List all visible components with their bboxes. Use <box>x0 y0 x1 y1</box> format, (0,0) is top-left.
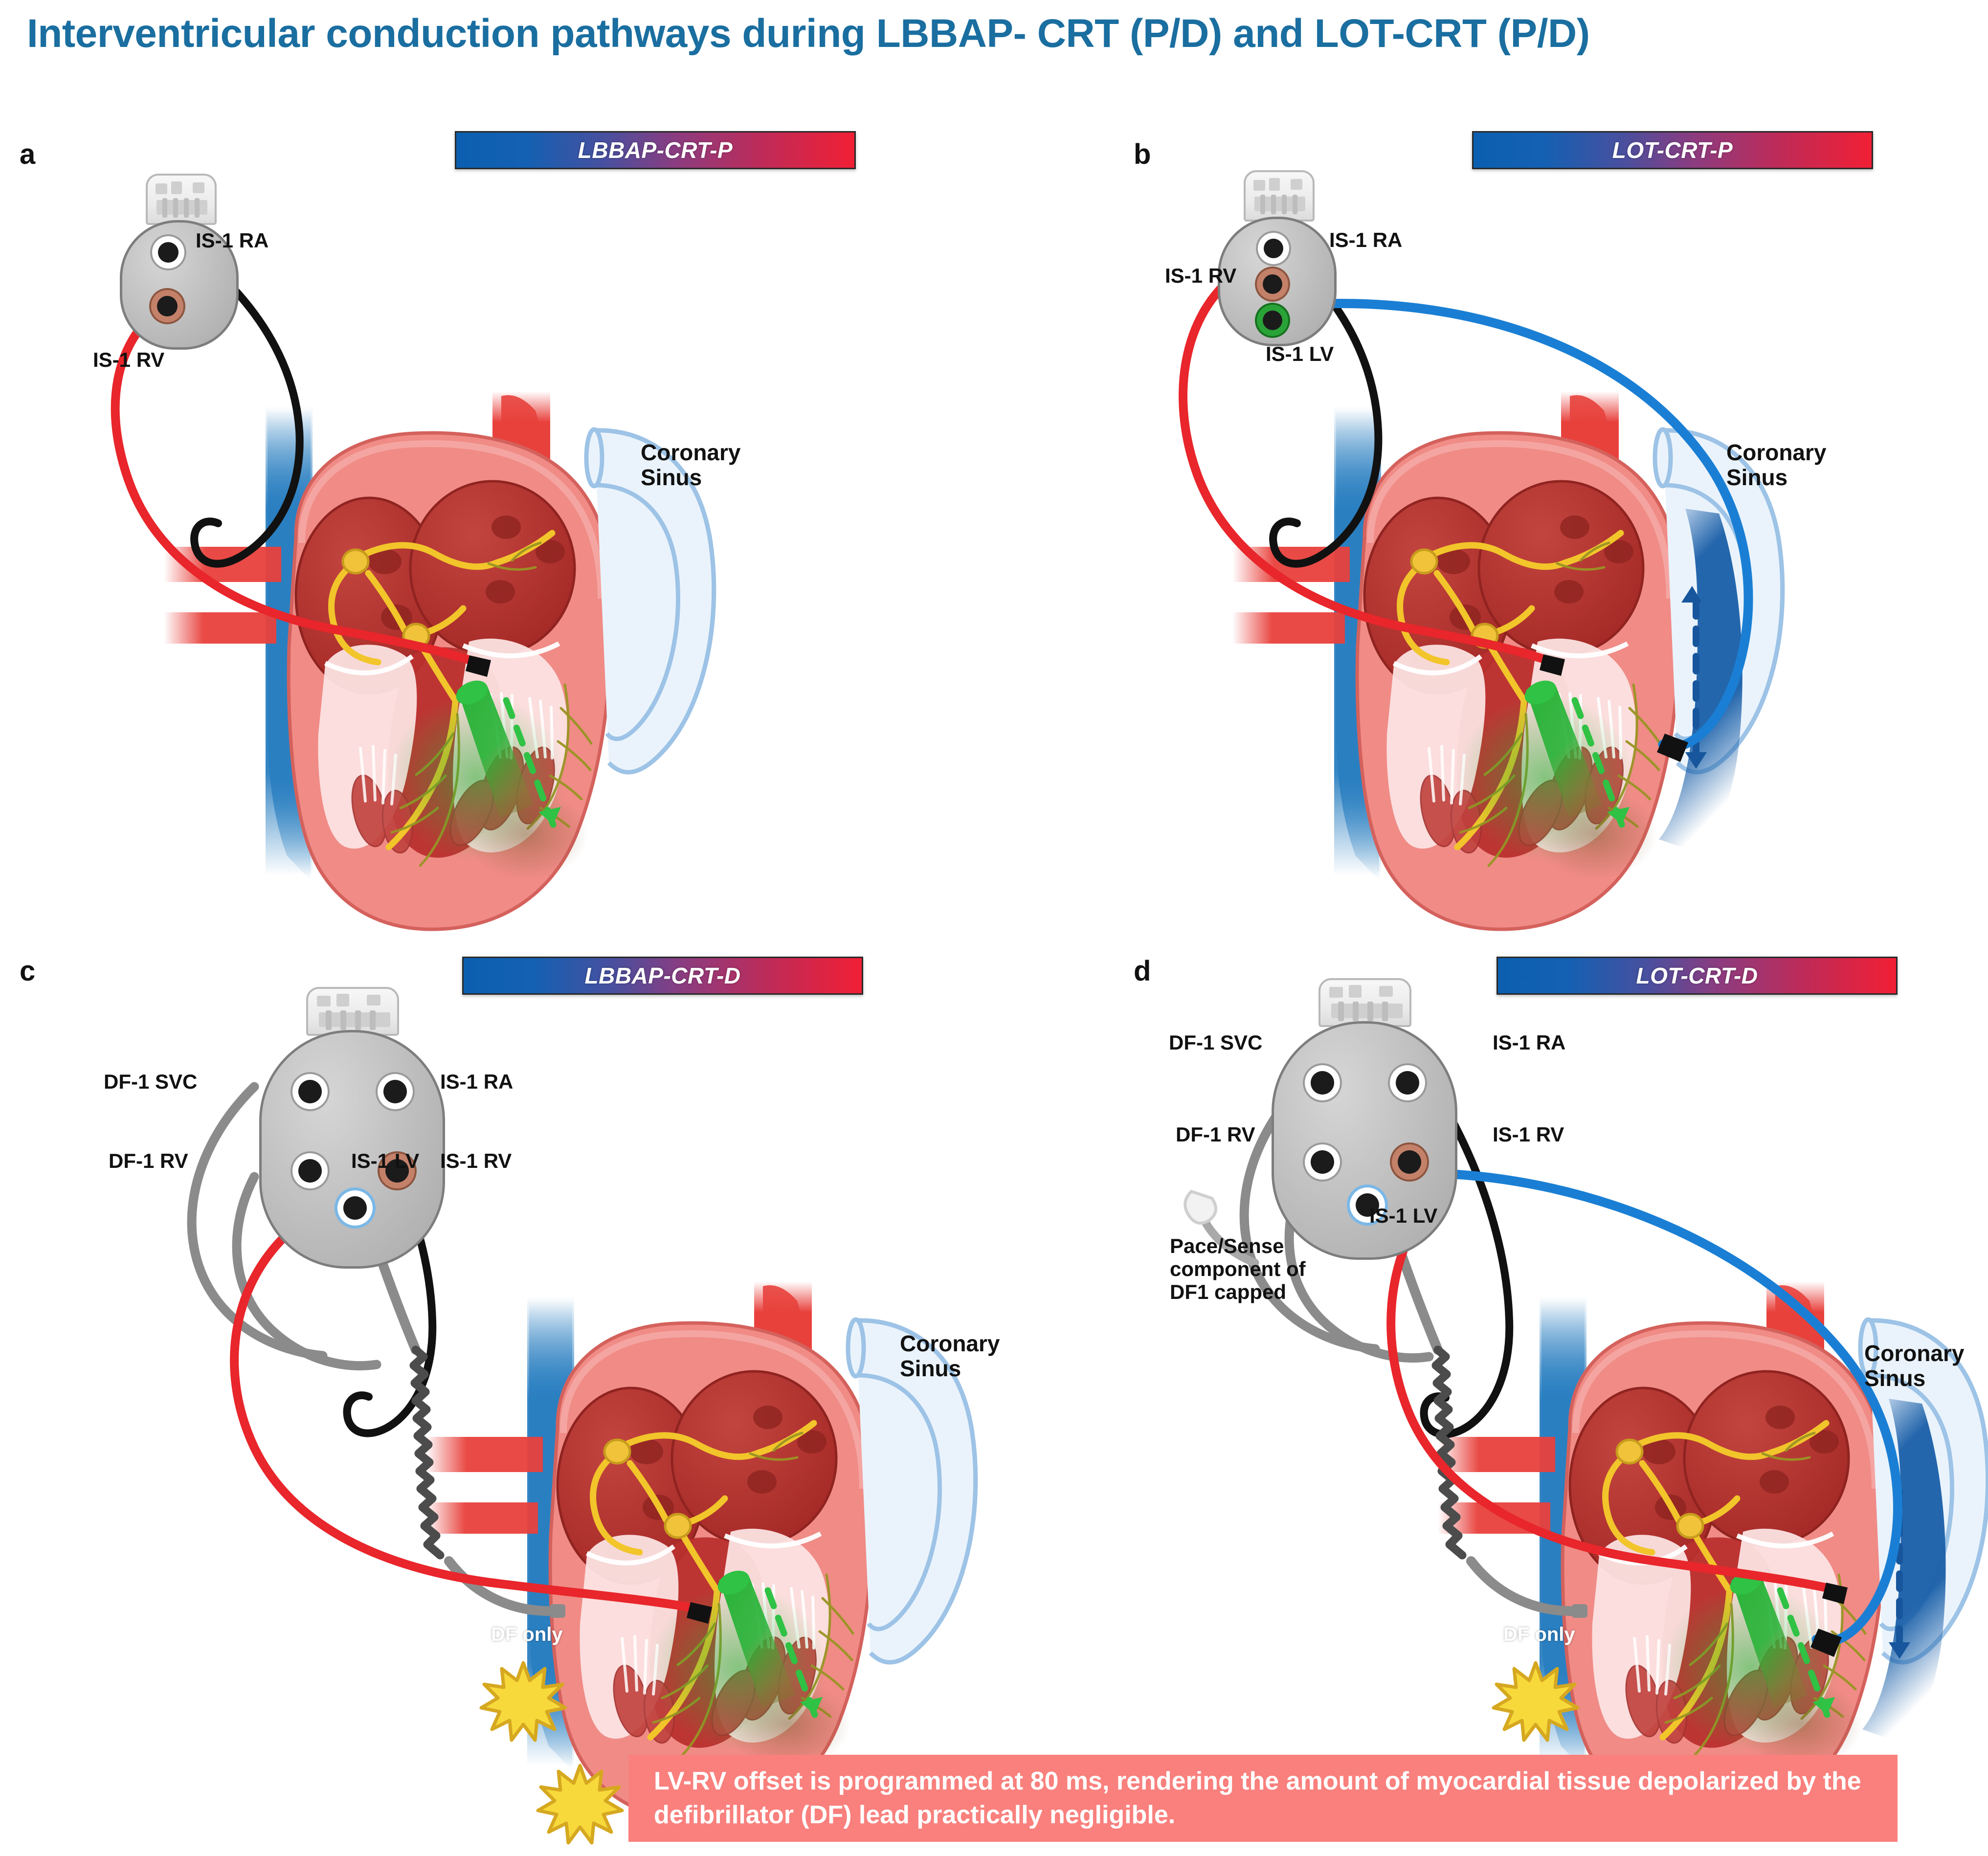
panel-b-legend-bar: LOT-CRT-P <box>1472 131 1873 169</box>
device-header-block-d <box>1318 978 1411 1027</box>
panel-b-legend-label: LOT-CRT-P <box>1612 137 1733 163</box>
anatomy-artwork-layer <box>0 0 1988 1856</box>
label-is1-ra-a: IS-1 RA <box>196 229 268 252</box>
footer-caption-bar: LV-RV offset is programmed at 80 ms, ren… <box>628 1755 1898 1842</box>
label-df1-rv-d: DF-1 RV <box>1176 1123 1255 1146</box>
label-coronary-sinus-d: Coronary Sinus <box>1864 1341 1964 1390</box>
label-is1-ra-d: IS-1 RA <box>1493 1031 1565 1054</box>
panel-a-letter: a <box>20 138 35 171</box>
label-df1-svc-d: DF-1 SVC <box>1169 1031 1262 1054</box>
label-is1-ra-b: IS-1 RA <box>1329 228 1402 251</box>
label-df-only-d: DF only <box>1503 1624 1575 1646</box>
port-is1-ra-c[interactable] <box>383 1080 407 1103</box>
port-is1-ra-d[interactable] <box>1396 1071 1419 1095</box>
port-is1-rv-b[interactable] <box>1263 274 1282 294</box>
label-df1-capped-note: Pace/Sense component of DF1 capped <box>1170 1234 1317 1303</box>
panel-a-legend-label: LBBAP-CRT-P <box>578 137 733 163</box>
device-header-block-c <box>306 987 399 1036</box>
port-df1-svc-c[interactable] <box>298 1080 322 1103</box>
label-is1-rv-a: IS-1 RV <box>93 348 164 371</box>
label-is1-lv-b: IS-1 LV <box>1266 342 1334 365</box>
label-is1-ra-c: IS-1 RA <box>440 1070 513 1093</box>
port-df1-rv-d[interactable] <box>1311 1150 1334 1174</box>
figure-canvas: Interventricular conduction pathways dur… <box>0 0 1988 1856</box>
label-coronary-sinus-c: Coronary Sinus <box>900 1331 1000 1381</box>
label-df1-svc-c: DF-1 SVC <box>104 1070 197 1093</box>
panel-b-letter: b <box>1134 138 1151 171</box>
label-coronary-sinus-a: Coronary Sinus <box>641 440 740 490</box>
panel-d-legend-bar: LOT-CRT-D <box>1497 957 1898 995</box>
label-is1-lv-d: IS-1 LV <box>1369 1204 1437 1227</box>
port-is1-ra-a[interactable] <box>158 242 179 263</box>
port-is1-lv-c[interactable] <box>343 1196 367 1220</box>
footer-caption-text: LV-RV offset is programmed at 80 ms, ren… <box>654 1765 1872 1832</box>
label-is1-rv-c: IS-1 RV <box>440 1149 512 1172</box>
port-is1-rv-d[interactable] <box>1398 1150 1421 1174</box>
port-is1-rv-a[interactable] <box>157 296 178 316</box>
device-header-block-a <box>146 174 217 225</box>
device-header-block-b <box>1244 170 1315 222</box>
label-is1-rv-d: IS-1 RV <box>1493 1123 1564 1146</box>
label-df-only-c: DF only <box>491 1624 563 1646</box>
panel-c-legend-label: LBBAP-CRT-D <box>585 962 741 989</box>
label-coronary-sinus-b: Coronary Sinus <box>1726 440 1826 490</box>
panel-d-letter: d <box>1134 955 1151 987</box>
panel-c-letter: c <box>20 955 35 987</box>
panel-d-legend-label: LOT-CRT-D <box>1636 962 1758 989</box>
port-is1-ra-b[interactable] <box>1264 239 1283 258</box>
panel-a-legend-bar: LBBAP-CRT-P <box>455 131 856 169</box>
label-is1-lv-c: IS-1 LV <box>351 1149 419 1172</box>
port-df1-rv-c[interactable] <box>298 1159 322 1183</box>
label-df1-rv-c: DF-1 RV <box>109 1149 188 1172</box>
panel-c-legend-bar: LBBAP-CRT-D <box>462 957 863 995</box>
port-is1-lv-b[interactable] <box>1263 311 1282 330</box>
label-is1-rv-b: IS-1 RV <box>1165 264 1236 287</box>
port-df1-svc-d[interactable] <box>1311 1071 1334 1095</box>
